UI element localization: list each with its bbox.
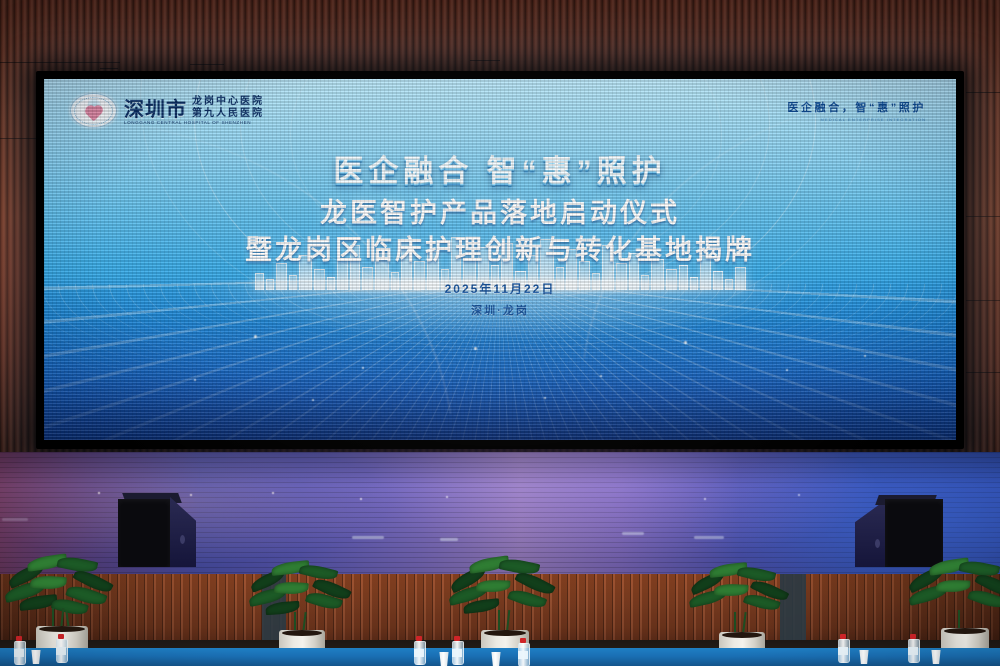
logo-city-name: 深圳市 (124, 99, 187, 119)
logo-hospital-line-2: 第九人民医院 (192, 108, 264, 119)
headline-line-1: 医企融合 智“惠”照护 (44, 157, 956, 187)
headline-line-3: 暨龙岗区临床护理创新与转化基地揭牌 (44, 237, 956, 264)
logo-english-name: LONGGANG CENTRAL HOSPITAL OF SHENZHEN (124, 120, 264, 125)
event-headline-block: 医企融合 智“惠”照护 龙医智护产品落地启动仪式 暨龙岗区临床护理创新与转化基地… (44, 157, 956, 318)
event-date: 2025年11月22日 (44, 280, 956, 297)
led-video-wall: 深圳市 龙岗中心医院 第九人民医院 LONGGANG CENTRAL HOSPI… (36, 71, 964, 449)
headline-line-2: 龙医智护产品落地启动仪式 (44, 200, 956, 227)
event-place: 深圳·龙岗 (44, 302, 956, 318)
logo-hospital-line-1: 龙岗中心医院 (192, 96, 264, 107)
corner-slogan: 医企融合，智“惠”照护 MEDICAL ENTERPRISE INTEGRATI… (787, 99, 926, 122)
hospital-emblem-icon (70, 93, 117, 128)
stage-photograph: 深圳市 龙岗中心医院 第九人民医院 LONGGANG CENTRAL HOSPI… (0, 0, 1000, 666)
corner-slogan-cn: 医企融合，智“惠”照护 (787, 99, 926, 115)
corner-slogan-en: MEDICAL ENTERPRISE INTEGRATION (787, 117, 926, 122)
led-screen-content: 深圳市 龙岗中心医院 第九人民医院 LONGGANG CENTRAL HOSPI… (44, 79, 956, 440)
event-meta: 2025年11月22日 深圳·龙岗 (44, 280, 956, 318)
stage-monitor-speaker-left (118, 493, 196, 567)
hospital-logo-lockup: 深圳市 龙岗中心医院 第九人民医院 LONGGANG CENTRAL HOSPI… (70, 93, 264, 128)
